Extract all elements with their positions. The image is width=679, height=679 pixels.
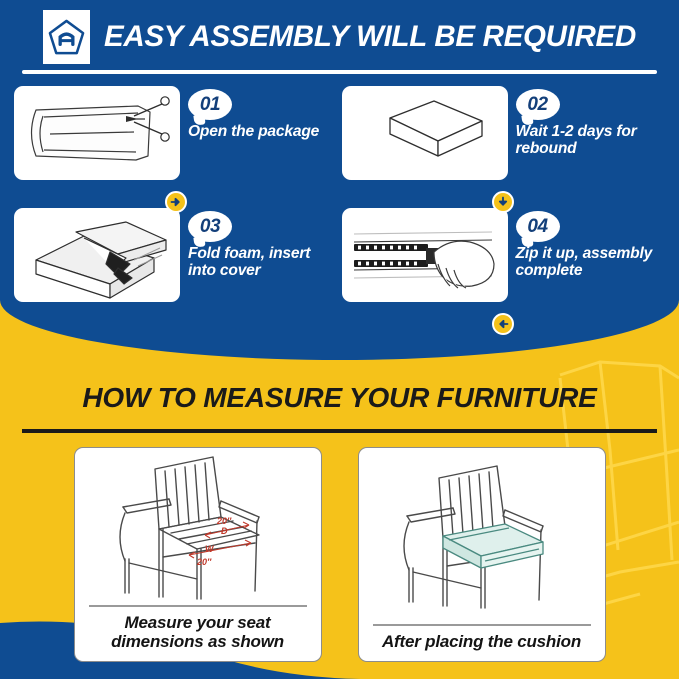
header: EASY ASSEMBLY WILL BE REQUIRED <box>0 6 679 68</box>
step-badge-04 <box>492 313 514 335</box>
step-text-01: 01 Open the package <box>188 86 338 141</box>
page-title: EASY ASSEMBLY WILL BE REQUIRED <box>104 20 636 54</box>
measure-section-title: HOW TO MEASURE YOUR FURNITURE <box>0 382 679 414</box>
step-number-01: 01 <box>200 94 220 116</box>
step-number-bubble-01: 01 <box>188 89 232 120</box>
step-number-bubble-02: 02 <box>516 89 560 120</box>
infographic-page: EASY ASSEMBLY WILL BE REQUIRED <box>0 0 679 679</box>
assembly-section: EASY ASSEMBLY WILL BE REQUIRED <box>0 0 679 360</box>
assembly-steps: 01 Open the package <box>0 86 679 326</box>
step-label-04: Zip it up, assembly complete <box>516 246 666 280</box>
step-figure-02 <box>342 86 508 180</box>
step-number-bubble-03: 03 <box>188 211 232 242</box>
step-text-04: 04 Zip it up, assembly complete <box>516 208 666 280</box>
step-figure-01 <box>14 86 180 180</box>
arrow-down-icon <box>497 196 509 208</box>
chair-with-dimensions-icon: 20″ D W 20″ <box>75 448 321 605</box>
step-text-02: 02 Wait 1-2 days for rebound <box>516 86 666 158</box>
step-badge-01 <box>165 191 187 213</box>
dimension-depth-label: D <box>221 526 228 536</box>
measure-card-dimensions: 20″ D W 20″ Measure your seat dimensions… <box>74 447 322 662</box>
chair-with-cushion-icon <box>359 448 605 624</box>
card-caption-left: Measure your seat dimensions as shown <box>75 607 321 661</box>
arrow-right-icon <box>170 196 182 208</box>
step-badge-02 <box>492 191 514 213</box>
dimension-width-value: 20″ <box>196 557 212 567</box>
step-card-04: 04 Zip it up, assembly complete <box>342 208 666 326</box>
step-label-02: Wait 1-2 days for rebound <box>516 124 666 158</box>
card-caption-right: After placing the cushion <box>374 626 589 661</box>
step-label-03: Fold foam, insert into cover <box>188 246 338 280</box>
step-card-02: 02 Wait 1-2 days for rebound <box>342 86 666 204</box>
step-label-01: Open the package <box>188 124 338 141</box>
measure-card-cushion: After placing the cushion <box>358 447 606 662</box>
title-divider <box>22 70 657 74</box>
measure-title-divider <box>22 429 657 433</box>
step-number-bubble-04: 04 <box>516 211 560 242</box>
dimension-depth-value: 20″ <box>216 516 232 526</box>
step-card-01: 01 Open the package <box>14 86 338 204</box>
step-figure-04 <box>342 208 508 302</box>
step-text-03: 03 Fold foam, insert into cover <box>188 208 338 280</box>
step-card-03: 03 Fold foam, insert into cover <box>14 208 338 326</box>
step-number-04: 04 <box>527 216 547 238</box>
arrow-left-icon <box>497 318 509 330</box>
pentagon-house-icon <box>47 18 86 57</box>
measure-cards: 20″ D W 20″ Measure your seat dimensions… <box>0 447 679 662</box>
step-figure-03 <box>14 208 180 302</box>
step-number-03: 03 <box>200 216 220 238</box>
step-number-02: 02 <box>527 94 547 116</box>
brand-logo <box>43 10 90 64</box>
